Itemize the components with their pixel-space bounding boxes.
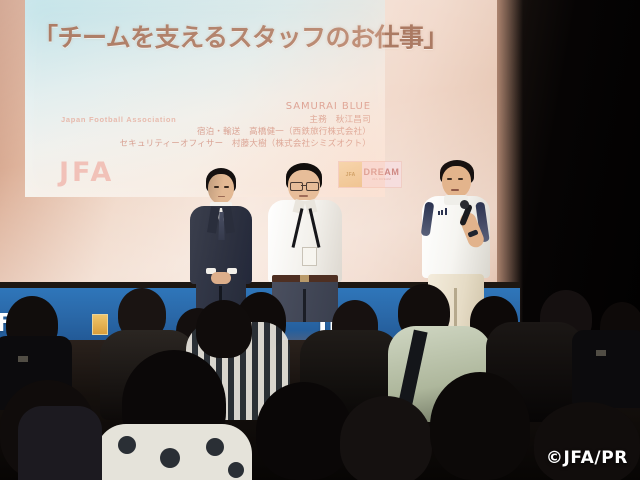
- chair-label: [596, 350, 606, 356]
- credit-team-name: SAMURAI BLUE: [111, 100, 371, 114]
- polka-dot: [206, 438, 224, 456]
- speaker-suit-face-shadow: [208, 174, 234, 204]
- credit-line-security: セキュリティーオフィサー 村藤大樹（株式会社シミズオクト）: [111, 138, 371, 150]
- speaker-shirt-leg-gap: [303, 289, 306, 322]
- speaker-shirt-top: [268, 200, 342, 282]
- audience-head-front: [430, 372, 530, 480]
- banner-crest-icon: [92, 314, 108, 335]
- id-badge: [302, 247, 317, 266]
- copyright-watermark: ©JFA/PR: [546, 448, 628, 468]
- speaker-suit-eye-right: [224, 186, 229, 188]
- speaker-shirt-mouth: [299, 195, 308, 197]
- polka-dot: [228, 462, 244, 478]
- speaker-shirt: [266, 163, 344, 315]
- microphone-head: [460, 200, 469, 209]
- chair-label: [18, 356, 28, 362]
- audience-head-front: [340, 396, 432, 480]
- speaker-polo-eye-left: [447, 178, 452, 180]
- glasses-icon: [306, 182, 319, 191]
- audience-head-front: [256, 382, 352, 480]
- slide-credits: SAMURAI BLUE 主務 秋江昌司 宿泊・輸送 高橋健一（西鉄旅行株式会社…: [111, 100, 371, 150]
- speaker-suit: [186, 168, 256, 313]
- audience-head: [196, 300, 252, 358]
- audience-cap: [18, 406, 102, 480]
- polka-dot: [160, 448, 180, 468]
- photo-canvas: 「チームを支えるスタッフのお仕事」 Japan Football Associa…: [0, 0, 640, 480]
- adidas-logo-icon: [438, 208, 448, 215]
- glasses-icon: [290, 182, 303, 191]
- speaker-suit-eye-left: [214, 186, 219, 188]
- credit-line-logistics: 宿泊・輸送 高橋健一（西鉄旅行株式会社）: [111, 126, 371, 138]
- speaker-polo-eye-right: [458, 178, 463, 180]
- audience-head-front: [534, 402, 640, 480]
- slide-title: 「チームを支えるスタッフのお仕事」: [33, 18, 377, 54]
- dream-badge-left-label: JFA: [346, 172, 356, 178]
- speaker-polo-head: [442, 166, 471, 198]
- jfa-dream-badge: JFA DREAM JFA DREAM: [338, 161, 402, 188]
- dream-badge-tagline: JFA DREAM: [372, 177, 391, 181]
- polka-dot: [118, 436, 136, 454]
- credit-line-chief: 主務 秋江昌司: [111, 114, 371, 126]
- audience-chair: [572, 330, 640, 408]
- dream-badge-text: DREAM JFA DREAM: [362, 162, 401, 187]
- glasses-bridge: [301, 185, 306, 186]
- dream-badge-title: DREAM: [364, 168, 400, 177]
- slide-jfa-logo: JFA: [59, 157, 114, 188]
- speaker-suit-clasped-hands: [211, 272, 231, 284]
